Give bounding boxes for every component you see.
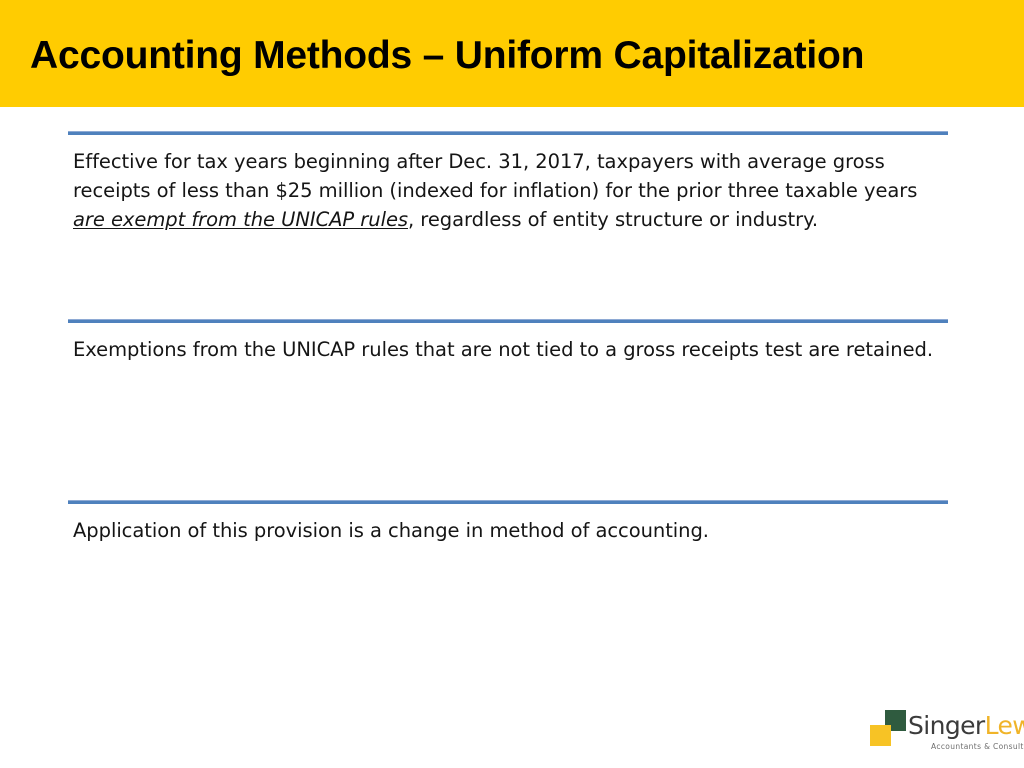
logo-word-singer: Singer	[908, 711, 985, 740]
logo-wordmark: SingerLewak	[908, 711, 1024, 740]
title-band: Accounting Methods – Uniform Capitalizat…	[0, 0, 1024, 107]
logo-squares-icon	[869, 710, 907, 746]
singerlewak-logo: SingerLewak Accountants & Consultants	[869, 709, 1019, 761]
slide-content: Effective for tax years beginning after …	[0, 107, 1024, 768]
logo-word-lewak: Lewak	[985, 711, 1024, 740]
block-text-after: , regardless of entity structure or indu…	[408, 208, 818, 231]
block-body-text: Exemptions from the UNICAP rules that ar…	[68, 335, 948, 364]
gold-square-icon	[870, 725, 891, 746]
content-block-retained-exemptions: Exemptions from the UNICAP rules that ar…	[68, 319, 948, 364]
block-text-before: Exemptions from the UNICAP rules that ar…	[73, 338, 933, 361]
content-block-unicap-exemption: Effective for tax years beginning after …	[68, 131, 948, 234]
logo-tagline: Accountants & Consultants	[931, 742, 1024, 751]
block-body-text: Effective for tax years beginning after …	[68, 147, 948, 234]
block-body-text: Application of this provision is a chang…	[68, 516, 948, 545]
divider-rule	[68, 131, 948, 135]
block-text-before: Application of this provision is a chang…	[73, 519, 709, 542]
divider-rule	[68, 500, 948, 504]
divider-rule	[68, 319, 948, 323]
page-title: Accounting Methods – Uniform Capitalizat…	[30, 30, 990, 82]
block-text-emphasis: are exempt from the UNICAP rules	[73, 208, 408, 231]
content-block-method-change: Application of this provision is a chang…	[68, 500, 948, 545]
block-text-before: Effective for tax years beginning after …	[73, 150, 917, 202]
